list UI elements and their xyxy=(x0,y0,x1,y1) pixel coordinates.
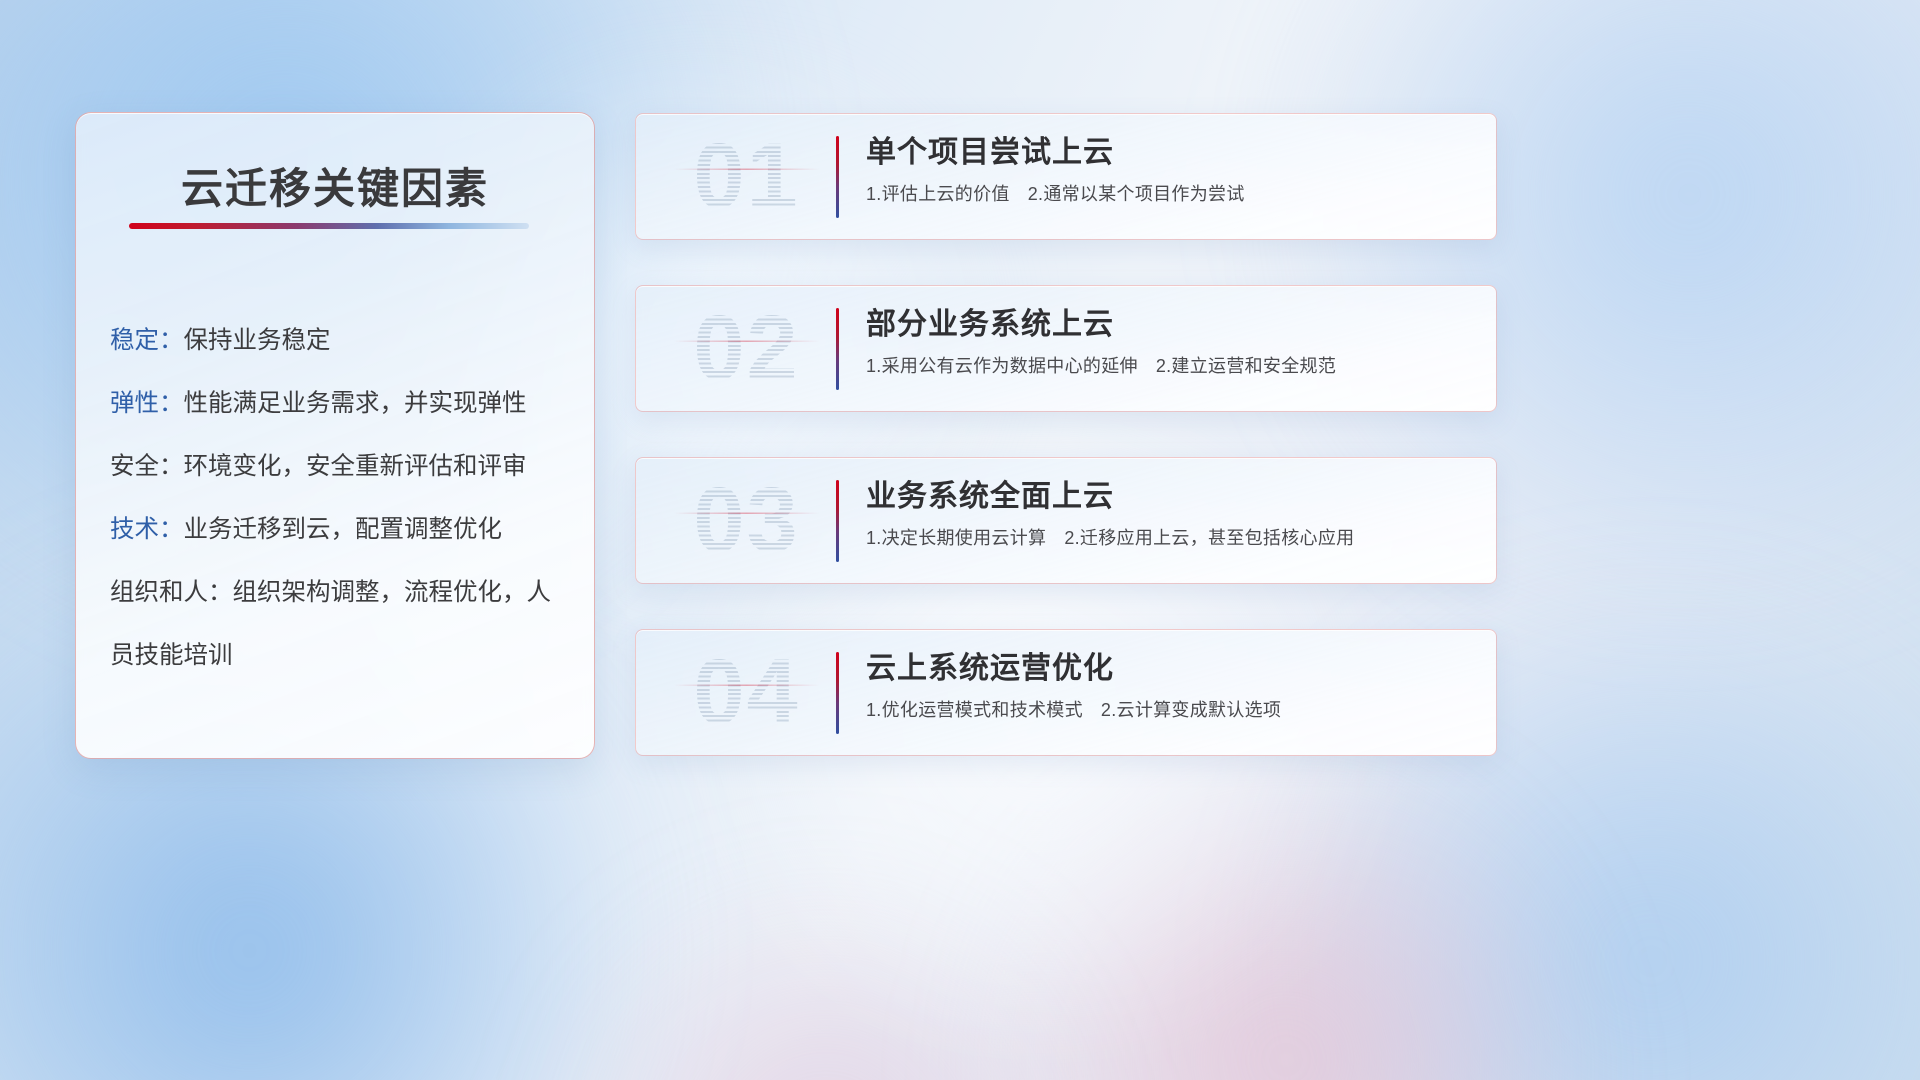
slide-stage: 云迁移关键因素 稳定：保持业务稳定弹性：性能满足业务需求，并实现弹性安全：环境变… xyxy=(0,0,1920,1080)
factor-key: 技术： xyxy=(110,516,184,543)
factor-key: 稳定： xyxy=(110,327,184,354)
stage-point: 2.云计算变成默认选项 xyxy=(1101,700,1281,720)
stage-point: 2.迁移应用上云，甚至包括核心应用 xyxy=(1064,528,1354,548)
factor-value: 环境变化，安全重新评估和评审 xyxy=(184,453,527,480)
stage-divider xyxy=(836,136,839,218)
stage-point: 1.评估上云的价值 xyxy=(866,184,1010,204)
stage-number-watermark: 04 xyxy=(664,636,829,748)
stage-number-watermark: 03 xyxy=(664,464,829,576)
stage-point: 2.建立运营和安全规范 xyxy=(1156,356,1336,376)
stage-number-watermark: 02 xyxy=(664,292,829,404)
factor-item: 弹性：性能满足业务需求，并实现弹性 xyxy=(110,372,568,435)
stage-points: 1.评估上云的价值2.通常以某个项目作为尝试 xyxy=(866,180,1472,208)
stage-body: 单个项目尝试上云 1.评估上云的价值2.通常以某个项目作为尝试 xyxy=(866,132,1472,208)
stage-point: 1.优化运营模式和技术模式 xyxy=(866,700,1083,720)
stage-body: 业务系统全面上云 1.决定长期使用云计算2.迁移应用上云，甚至包括核心应用 xyxy=(866,476,1472,552)
stage-point: 2.通常以某个项目作为尝试 xyxy=(1028,184,1245,204)
stage-number-watermark: 01 xyxy=(664,120,829,232)
factor-key: 组织和人： xyxy=(110,579,233,606)
factor-value: 业务迁移到云，配置调整优化 xyxy=(184,516,503,543)
key-factors-panel: 云迁移关键因素 稳定：保持业务稳定弹性：性能满足业务需求，并实现弹性安全：环境变… xyxy=(75,112,595,759)
key-factors-list: 稳定：保持业务稳定弹性：性能满足业务需求，并实现弹性安全：环境变化，安全重新评估… xyxy=(110,309,568,687)
stage-points: 1.采用公有云作为数据中心的延伸2.建立运营和安全规范 xyxy=(866,352,1472,380)
stage-title: 部分业务系统上云 xyxy=(866,304,1472,346)
factor-item: 技术：业务迁移到云，配置调整优化 xyxy=(110,498,568,561)
factor-item: 稳定：保持业务稳定 xyxy=(110,309,568,372)
stage-points: 1.决定长期使用云计算2.迁移应用上云，甚至包括核心应用 xyxy=(866,524,1472,552)
title-underline-rule xyxy=(129,223,529,229)
stage-points: 1.优化运营模式和技术模式2.云计算变成默认选项 xyxy=(866,696,1472,724)
stage-divider xyxy=(836,480,839,562)
factor-item: 安全：环境变化，安全重新评估和评审 xyxy=(110,435,568,498)
factor-item: 组织和人：组织架构调整，流程优化，人员技能培训 xyxy=(110,561,568,687)
panel-title: 云迁移关键因素 xyxy=(76,155,594,216)
stage-point: 1.采用公有云作为数据中心的延伸 xyxy=(866,356,1138,376)
stage-body: 云上系统运营优化 1.优化运营模式和技术模式2.云计算变成默认选项 xyxy=(866,648,1472,724)
factor-key: 安全： xyxy=(110,453,184,480)
stage-card-04[interactable]: 04 云上系统运营优化 1.优化运营模式和技术模式2.云计算变成默认选项 xyxy=(635,629,1497,756)
stage-divider xyxy=(836,652,839,734)
stage-card-02[interactable]: 02 部分业务系统上云 1.采用公有云作为数据中心的延伸2.建立运营和安全规范 xyxy=(635,285,1497,412)
factor-value: 性能满足业务需求，并实现弹性 xyxy=(184,390,527,417)
stage-title: 单个项目尝试上云 xyxy=(866,132,1472,174)
stage-title: 业务系统全面上云 xyxy=(866,476,1472,518)
stage-divider xyxy=(836,308,839,390)
stage-title: 云上系统运营优化 xyxy=(866,648,1472,690)
factor-value: 保持业务稳定 xyxy=(184,327,331,354)
stage-body: 部分业务系统上云 1.采用公有云作为数据中心的延伸2.建立运营和安全规范 xyxy=(866,304,1472,380)
stage-point: 1.决定长期使用云计算 xyxy=(866,528,1046,548)
factor-key: 弹性： xyxy=(110,390,184,417)
stage-card-03[interactable]: 03 业务系统全面上云 1.决定长期使用云计算2.迁移应用上云，甚至包括核心应用 xyxy=(635,457,1497,584)
stage-card-01[interactable]: 01 单个项目尝试上云 1.评估上云的价值2.通常以某个项目作为尝试 xyxy=(635,113,1497,240)
